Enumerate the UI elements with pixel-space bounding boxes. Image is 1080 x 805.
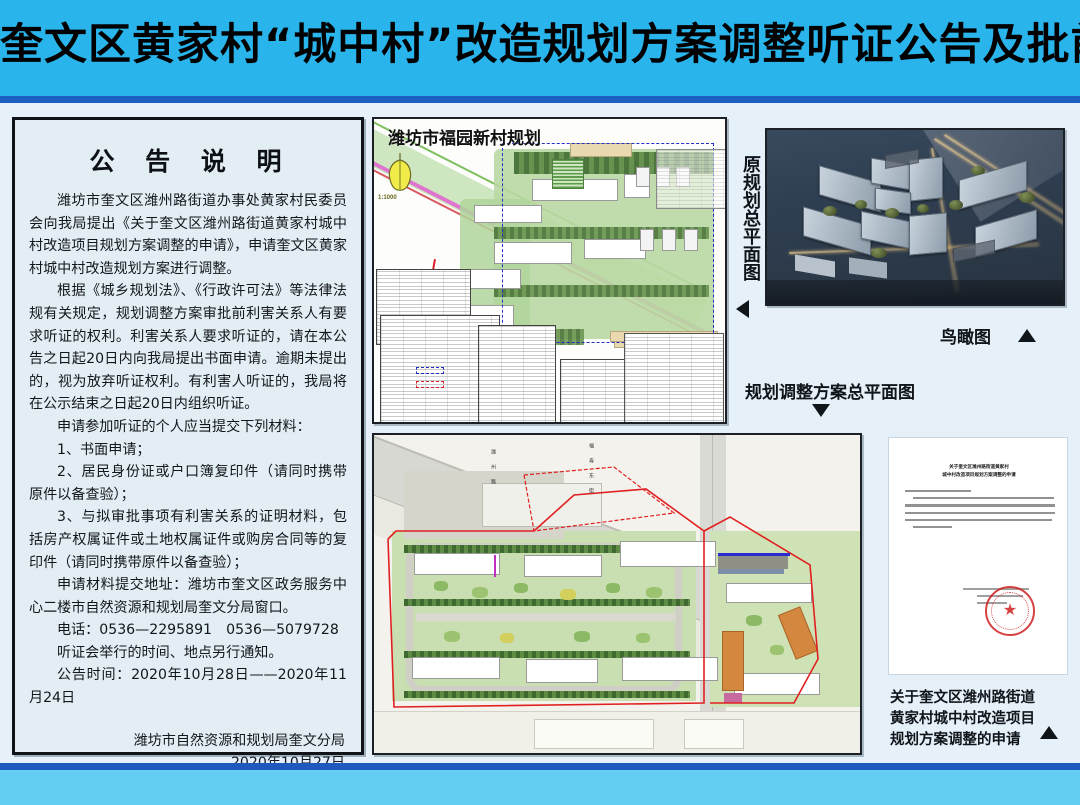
adjacent-building <box>684 719 744 749</box>
notice-paragraph: 申请参加听证的个人应当提交下列材料： <box>29 416 347 439</box>
road-label: 潍 州 路 <box>490 449 497 486</box>
road-label: 福 寿 东 街 <box>588 443 595 495</box>
shrub <box>500 633 514 643</box>
triangle-left-icon <box>736 300 749 318</box>
plan-indicator-table <box>478 325 556 424</box>
original-site-plan-image: 潍坊市福园新村规划 1:1000 <box>372 117 727 424</box>
table-text-texture <box>479 326 555 424</box>
tree-cluster <box>917 204 929 213</box>
shrub <box>646 587 662 598</box>
notice-list-item: 3、与拟审批事项有利害关系的证明材料，包括房产权属证件或土地权属证件或购房合同等… <box>29 506 347 574</box>
notice-list-item: 1、书面申请； <box>29 439 347 462</box>
tree-cluster <box>871 248 887 258</box>
magenta-line <box>494 555 496 577</box>
shrub <box>574 631 590 642</box>
notice-phone: 电话：0536—2295891 0536—5079728 <box>29 619 347 642</box>
red-boundary-outline <box>374 435 862 755</box>
announcement-heading: 公 告 说 明 <box>35 142 347 178</box>
legend-swatch-daizheng <box>416 381 444 388</box>
footer-divider <box>0 763 1080 770</box>
text-line <box>905 519 1052 521</box>
application-document-caption: 关于奎文区潍州路街道黄家村城中村改造项目规划方案调整的申请 <box>890 688 1040 751</box>
triangle-up-icon <box>1018 329 1036 342</box>
table-text-texture <box>625 334 723 424</box>
document-body-text <box>905 490 1055 533</box>
banner-divider <box>0 96 1080 103</box>
seal-star-icon: ★ <box>1003 603 1017 619</box>
announcement-panel: 公 告 说 明 潍坊市奎文区潍州路街道办事处黄家村民委员会向我局提出《关于奎文区… <box>12 117 364 755</box>
adjusted-plan-caption: 规划调整方案总平面图 <box>745 378 915 403</box>
plan-title: 潍坊市福园新村规划 <box>388 124 541 149</box>
plan-side-table <box>656 149 726 209</box>
application-document-image: 关于奎文区潍州路街道黄家村 城中村改造项目规划方案调整的申请 ★ <box>888 437 1068 675</box>
triangle-down-icon <box>812 404 830 417</box>
text-line <box>905 490 971 492</box>
notice-paragraph: 根据《城乡规划法》、《行政许可法》等法律法规有关规定，规划调整方案审批前利害关系… <box>29 280 347 416</box>
tree-cluster <box>885 208 899 218</box>
shrub <box>514 583 528 593</box>
render-foreground <box>767 280 1065 306</box>
document-title-line2: 城中村改造项目规划方案调整的申请 <box>905 472 1053 480</box>
document-title-line1: 关于奎文区潍州路街道黄家村 <box>905 464 1053 472</box>
table-text-texture <box>657 150 725 208</box>
shrub <box>636 633 650 643</box>
plan-indicator-table <box>624 333 724 424</box>
shrub <box>770 645 784 655</box>
tree-cluster <box>1019 192 1035 203</box>
shrub <box>746 615 762 626</box>
notice-hearing-note: 听证会举行的时间、地点另行通知。 <box>29 642 347 665</box>
tree-cluster <box>823 206 837 216</box>
original-plan-label: 原规划总平面图 <box>733 155 761 281</box>
notice-paragraph: 潍坊市奎文区潍州路街道办事处黄家村民委员会向我局提出《关于奎文区潍州路街道黄家村… <box>29 190 347 280</box>
footer-band <box>0 770 1080 805</box>
tower-building <box>909 212 947 255</box>
document-title: 关于奎文区潍州路街道黄家村 城中村改造项目规划方案调整的申请 <box>905 464 1053 480</box>
shrub <box>444 631 460 642</box>
text-line <box>905 512 1055 514</box>
adjusted-site-plan-image: 潍 州 路 福 寿 东 街 规划支路 <box>372 433 862 755</box>
shrub <box>606 583 620 593</box>
tree-cluster <box>949 200 963 210</box>
text-line <box>913 526 952 528</box>
shrub <box>434 581 448 591</box>
aerial-render-image <box>765 128 1065 306</box>
adjacent-building <box>534 719 654 749</box>
page-title: 奎文区黄家村“城中村”改造规划方案调整听证公告及批前公示 <box>0 16 1080 74</box>
legend-swatch-anzhi <box>416 367 444 374</box>
scale-label: 1:1000 <box>378 195 397 201</box>
text-line <box>913 497 1054 499</box>
blue-boundary-line <box>718 553 790 556</box>
signer-name: 潍坊市自然资源和规划局奎文分局 <box>29 730 345 752</box>
aerial-caption: 鸟瞰图 <box>940 323 991 348</box>
notice-address: 申请材料提交地址：潍坊市奎文区政务服务中心二楼市自然资源和规划局奎文分局窗口。 <box>29 574 347 619</box>
north-compass-icon <box>382 151 418 197</box>
page-banner: 奎文区黄家村“城中村”改造规划方案调整听证公告及批前公示 <box>0 0 1080 96</box>
notice-period: 公告时间：2020年10月28日——2020年11月24日 <box>29 664 347 709</box>
tree-cluster <box>971 166 985 175</box>
notice-list-item: 2、居民身份证或户口簿复印件（请同时携带原件以备查验）； <box>29 461 347 506</box>
shrub <box>560 589 576 600</box>
triangle-up-icon <box>1040 726 1058 739</box>
tree-cluster <box>855 200 867 209</box>
shrub <box>472 587 488 598</box>
text-line <box>905 504 1055 506</box>
red-official-seal: ★ <box>985 586 1035 636</box>
